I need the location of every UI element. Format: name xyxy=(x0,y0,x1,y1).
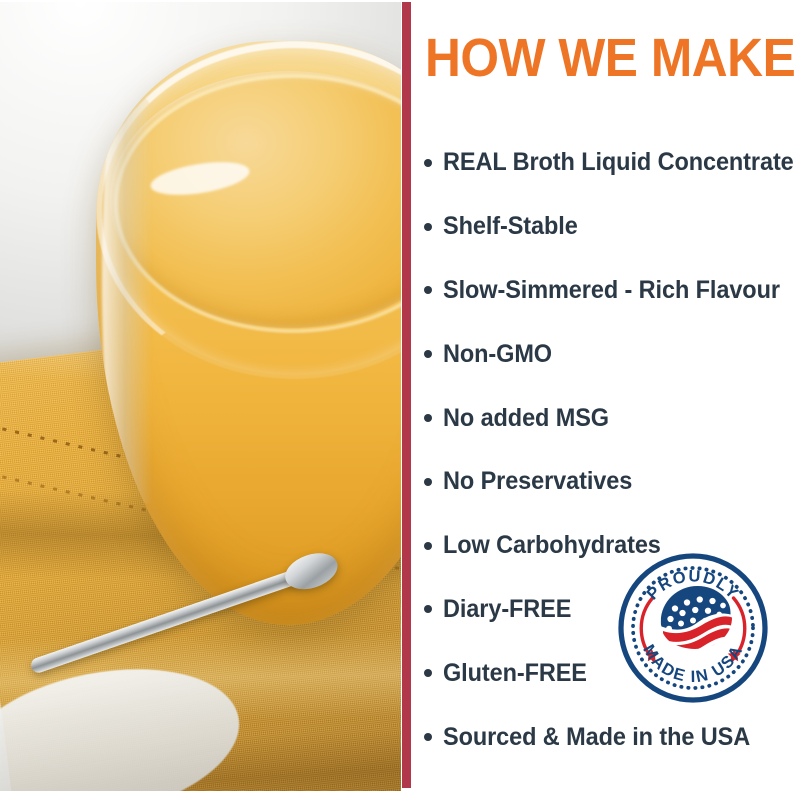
broth-photo xyxy=(0,2,401,791)
bullet-dot-icon xyxy=(424,159,432,167)
list-item: Non-GMO xyxy=(411,322,800,386)
feature-label: Non-GMO xyxy=(443,341,552,368)
list-item: Slow-Simmered - Rich Flavour xyxy=(411,259,800,323)
feature-label: Sourced & Made in the USA xyxy=(443,724,750,751)
vertical-divider xyxy=(402,2,411,788)
list-item: No Preservatives xyxy=(411,450,800,514)
bowl-glass-wall xyxy=(102,59,152,503)
feature-label: Gluten-FREE xyxy=(443,660,587,687)
bullet-dot-icon xyxy=(424,223,432,231)
feature-label: Slow-Simmered - Rich Flavour xyxy=(443,277,780,304)
feature-label: REAL Broth Liquid Concentrate xyxy=(443,149,794,176)
feature-label: Diary-FREE xyxy=(443,596,571,623)
content-panel: HOW WE MAKE IT REAL Broth Liquid Concent… xyxy=(411,0,800,800)
feature-label: No added MSG xyxy=(443,405,609,432)
bullet-dot-icon xyxy=(424,286,432,294)
feature-label: No Preservatives xyxy=(443,468,632,495)
list-item: Shelf-Stable xyxy=(411,195,800,259)
photo-stage xyxy=(0,2,401,791)
parsley-garnish xyxy=(396,199,401,261)
bullet-dot-icon xyxy=(424,669,432,677)
bullet-dot-icon xyxy=(424,733,432,741)
infographic-root: HOW WE MAKE IT REAL Broth Liquid Concent… xyxy=(0,0,800,800)
list-item: No added MSG xyxy=(411,386,800,450)
bullet-dot-icon xyxy=(424,350,432,358)
bullet-dot-icon xyxy=(424,542,432,550)
feature-label: Shelf-Stable xyxy=(443,213,578,240)
bullet-dot-icon xyxy=(424,478,432,486)
list-item: Sourced & Made in the USA xyxy=(411,705,800,769)
page-title: HOW WE MAKE IT xyxy=(425,30,767,86)
bullet-dot-icon xyxy=(424,605,432,613)
list-item: REAL Broth Liquid Concentrate xyxy=(411,131,800,195)
proudly-made-in-usa-seal-icon: PROUDLY MADE IN USA xyxy=(618,553,768,703)
bullet-dot-icon xyxy=(424,414,432,422)
